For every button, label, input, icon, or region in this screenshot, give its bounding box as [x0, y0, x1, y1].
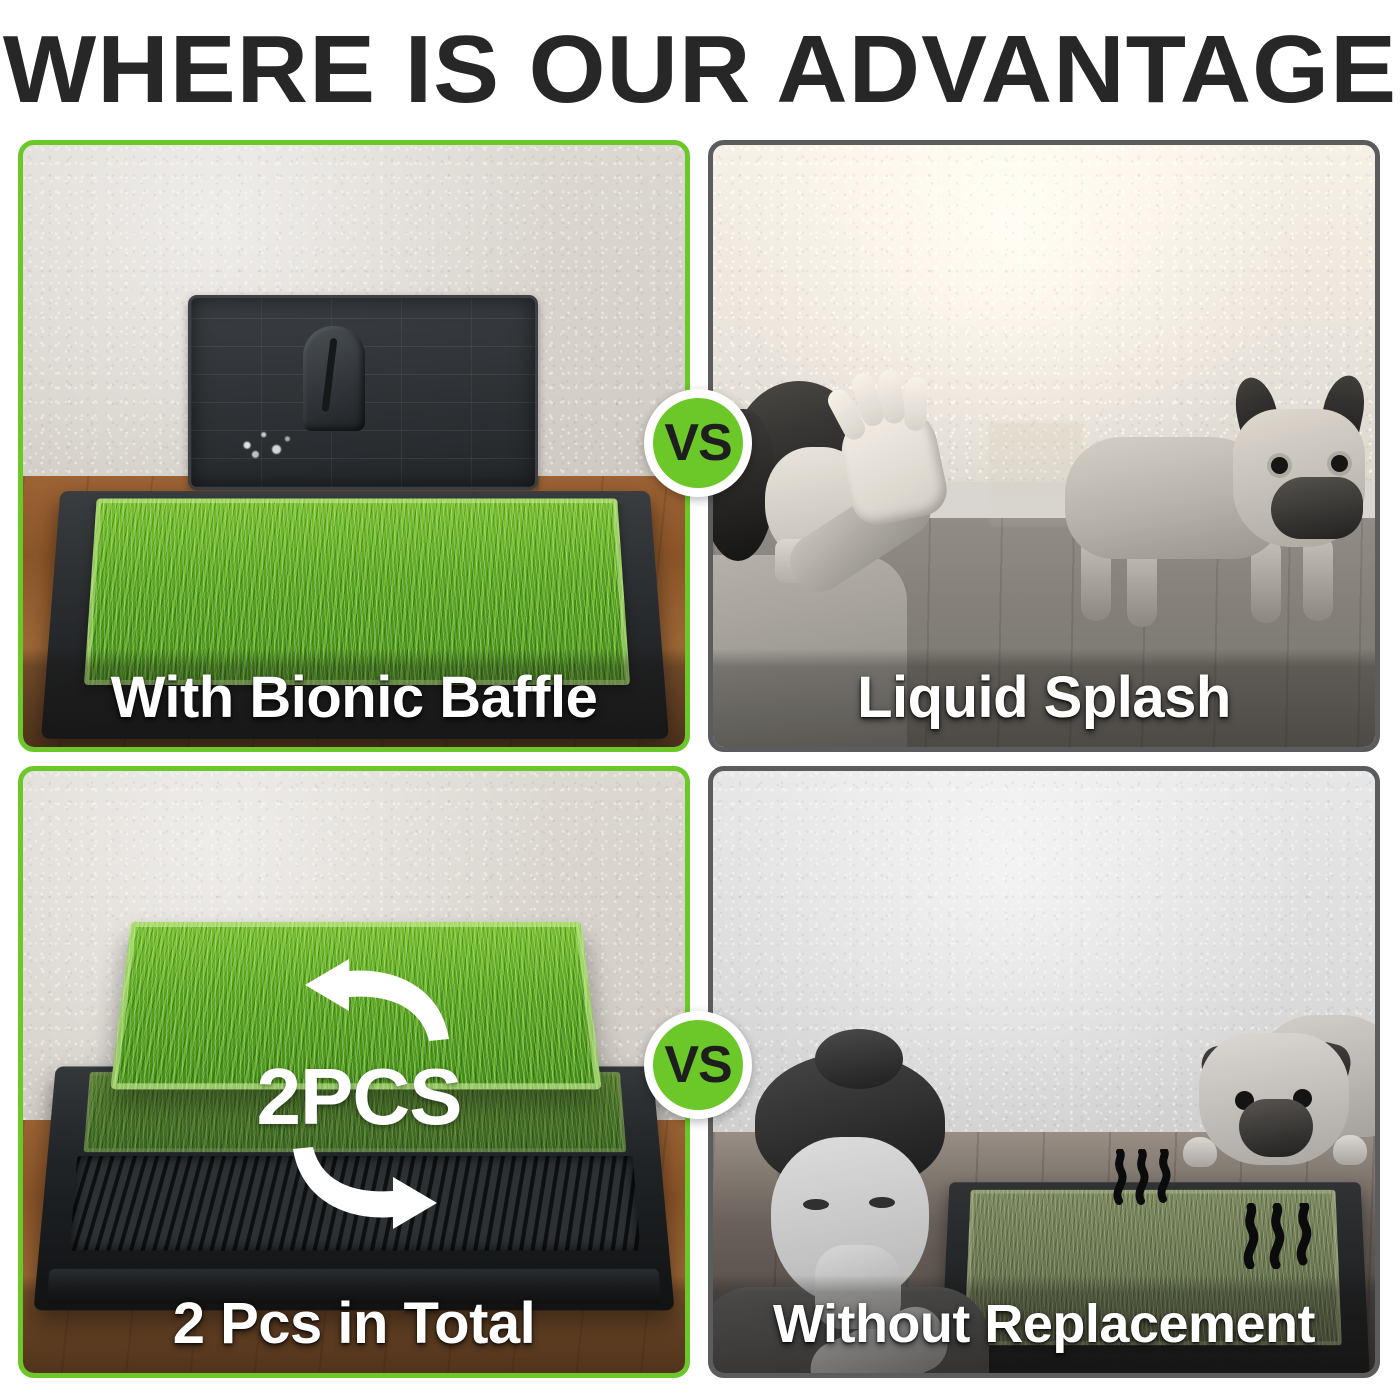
glove-finger: [904, 377, 928, 432]
panel-with-bionic-baffle[interactable]: With Bionic Baffle: [18, 140, 690, 752]
bionic-baffle-panel: [188, 295, 538, 490]
odor-lines-left-icon: [1111, 1149, 1173, 1205]
panel-image-2-pcs-in-total: 2PCS 2 Pcs in Total: [23, 771, 685, 1373]
page-title: WHERE IS OUR ADVANTAGE: [0, 22, 1400, 118]
dog-leg: [1303, 535, 1333, 621]
panel-without-replacement[interactable]: Without Replacement: [708, 766, 1380, 1378]
dog-paw: [1333, 1135, 1367, 1165]
panel-image-without-replacement: Without Replacement: [713, 771, 1375, 1373]
dog-eye: [1331, 455, 1348, 472]
dog-muzzle: [1239, 1099, 1313, 1157]
baffle-dog-motif-icon: [303, 326, 365, 431]
dog-muzzle: [1271, 477, 1363, 539]
swap-arrow-up-icon: [303, 959, 453, 1050]
panel-image-with-bionic-baffle: With Bionic Baffle: [23, 145, 685, 747]
pcs-overlay-label: 2PCS: [23, 1057, 685, 1137]
panel-caption-liquid-splash: Liquid Splash: [713, 649, 1375, 747]
water-splash-icon: [233, 420, 297, 462]
woman-eye: [803, 1199, 829, 1210]
panel-liquid-splash[interactable]: Liquid Splash: [708, 140, 1380, 752]
panel-caption-2-pcs-in-total: 2 Pcs in Total: [23, 1275, 685, 1373]
vs-badge-top: VS: [644, 389, 752, 497]
panel-caption-without-replacement: Without Replacement: [713, 1275, 1375, 1373]
comparison-grid: With Bionic Baffle: [18, 140, 1385, 1384]
woman-eye: [869, 1197, 895, 1208]
infographic-root: WHERE IS OUR ADVANTAGE With Bionic Baffl…: [0, 0, 1400, 1400]
dog-eye: [1271, 457, 1288, 474]
vs-badge-bottom: VS: [644, 1011, 752, 1119]
pug-dog: [1169, 1033, 1375, 1223]
panel-image-liquid-splash: Liquid Splash: [713, 145, 1375, 747]
dog-paw: [1183, 1137, 1217, 1167]
panel-caption-with-bionic-baffle: With Bionic Baffle: [23, 649, 685, 747]
swap-arrow-down-icon: [291, 1143, 441, 1234]
panel-2-pcs-in-total[interactable]: 2PCS 2 Pcs in Total: [18, 766, 690, 1378]
woman-hair-bun: [815, 1029, 903, 1089]
french-bulldog: [1065, 385, 1375, 675]
